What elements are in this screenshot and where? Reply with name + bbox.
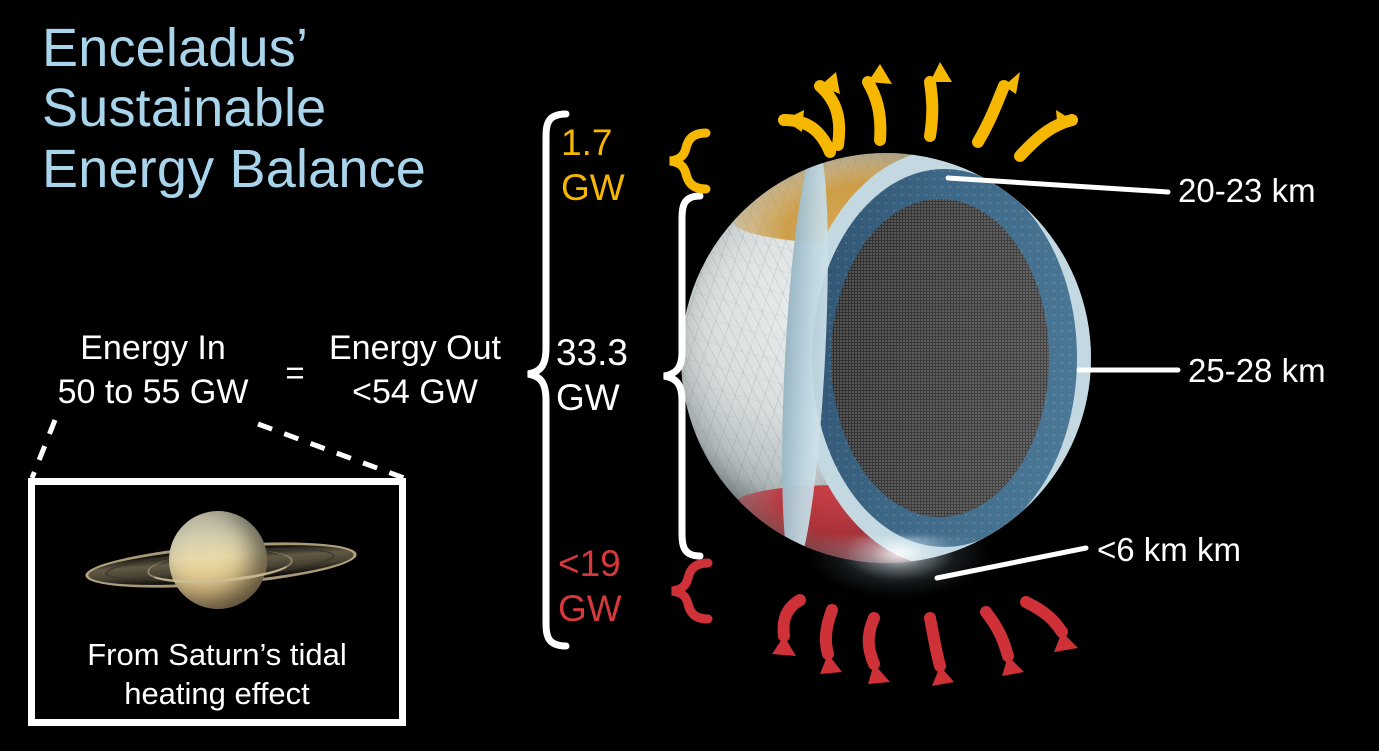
callout-label-south-ice: <6 km km <box>1097 531 1241 569</box>
energy-balance-equation: Energy In 50 to 55 GW = Energy Out <54 G… <box>20 327 530 427</box>
interior-cutaway <box>681 153 1091 563</box>
dashed-connector-saturn <box>32 420 404 478</box>
heat-flow-down-arrowheads <box>772 632 1078 686</box>
page-title: Enceladus’ Sustainable Energy Balance <box>42 18 512 199</box>
rocky-core-layer <box>831 199 1049 517</box>
enceladus-cutaway-illustration <box>681 108 1111 608</box>
breakdown-value-south-polar-plumes: <19 GW <box>558 541 622 631</box>
south-polar-plume-glow <box>809 536 989 616</box>
saturn-inset-caption: From Saturn’s tidal heating effect <box>35 635 399 713</box>
infographic-canvas: Enceladus’ Sustainable Energy Balance En… <box>0 0 1379 751</box>
saturn-image <box>35 489 399 639</box>
breakdown-value-surface-conduction: 1.7 GW <box>561 120 625 210</box>
saturn-inset-panel: From Saturn’s tidal heating effect <box>28 478 406 726</box>
breakdown-value-global-conduction: 33.3 GW <box>556 330 628 420</box>
energy-out-block: Energy Out <54 GW <box>302 327 528 414</box>
callout-label-ocean: 25-28 km <box>1188 352 1326 390</box>
callout-label-ice-crust: 20-23 km <box>1178 172 1316 210</box>
energy-in-block: Energy In 50 to 55 GW <box>28 327 278 414</box>
